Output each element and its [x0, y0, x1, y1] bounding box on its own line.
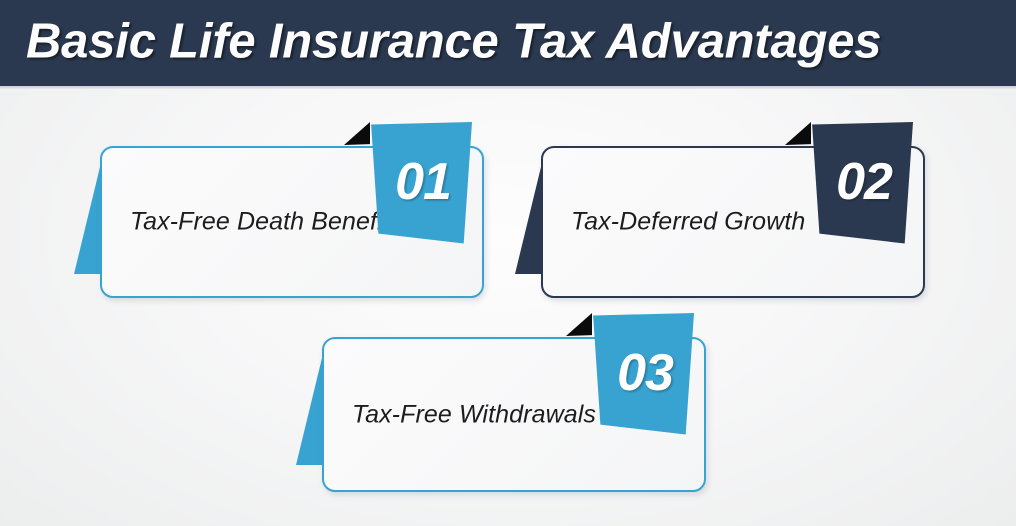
card-label-01: Tax-Free Death Benefit: [130, 208, 390, 237]
fold-corner-icon-01: [344, 122, 370, 146]
infographic-canvas: Basic Life Insurance Tax Advantages Tax-…: [0, 0, 1016, 526]
tag-number-01: 01: [368, 122, 472, 246]
page-title: Basic Life Insurance Tax Advantages: [26, 18, 881, 67]
tag-number-02: 02: [809, 122, 913, 246]
number-tag-02: 02: [809, 122, 913, 246]
fold-corner-icon-03: [566, 313, 592, 337]
advantage-card-02[interactable]: Tax-Deferred Growth 02: [541, 146, 925, 298]
card-label-03: Tax-Free Withdrawals: [352, 400, 596, 429]
header-banner: Basic Life Insurance Tax Advantages: [0, 0, 1016, 86]
header-divider: [0, 86, 1016, 89]
advantage-card-03[interactable]: Tax-Free Withdrawals 03: [322, 337, 706, 492]
tag-number-03: 03: [590, 313, 694, 437]
number-tag-03: 03: [590, 313, 694, 437]
number-tag-01: 01: [368, 122, 472, 246]
fold-corner-icon-02: [785, 122, 811, 146]
card-label-02: Tax-Deferred Growth: [571, 208, 805, 237]
advantage-card-01[interactable]: Tax-Free Death Benefit 01: [100, 146, 484, 298]
